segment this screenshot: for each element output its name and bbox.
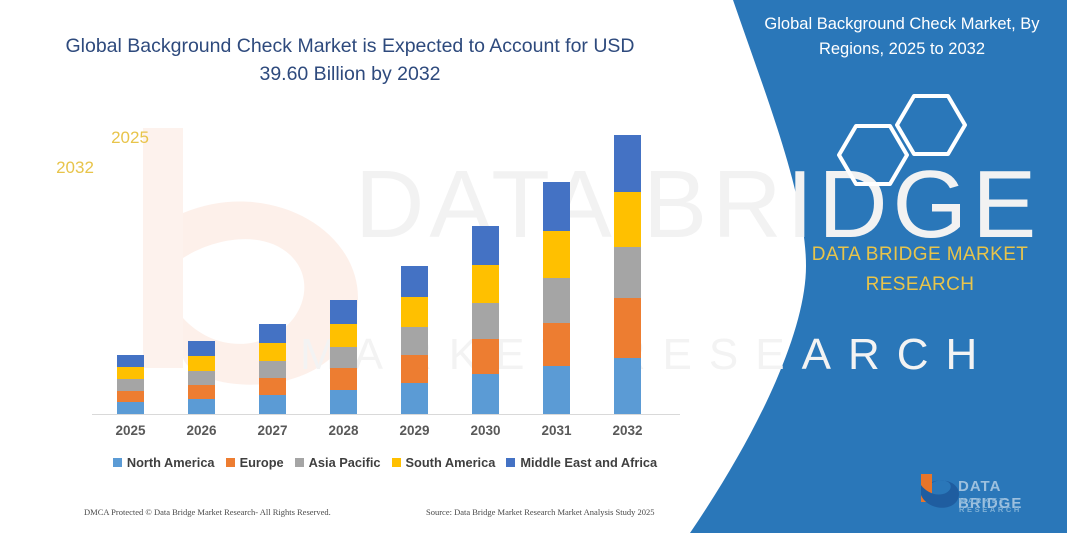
- footer-copyright: DMCA Protected © Data Bridge Market Rese…: [84, 507, 331, 517]
- segment-europe: [259, 378, 286, 395]
- segment-europe: [401, 355, 428, 383]
- panel-title: Global Background Check Market, By Regio…: [752, 12, 1052, 62]
- legend-label: Middle East and Africa: [520, 455, 657, 470]
- x-axis-labels: 20252026202720282029203020312032: [90, 423, 680, 443]
- bar-2032[interactable]: [614, 135, 641, 414]
- x-label-2030: 2030: [456, 423, 516, 438]
- segment-south-america: [330, 324, 357, 347]
- legend-swatch-icon: [113, 458, 122, 467]
- segment-south-america: [188, 356, 215, 371]
- segment-middle-east-and-africa: [614, 135, 641, 192]
- segment-middle-east-and-africa: [117, 355, 144, 367]
- segment-south-america: [117, 367, 144, 379]
- hexagon-2025-outline: [897, 96, 965, 154]
- hexagon-badges: [818, 92, 1018, 207]
- segment-south-america: [614, 192, 641, 247]
- segment-north-america: [117, 402, 144, 414]
- brand-line-1: DATA BRIDGE MARKET: [790, 240, 1050, 270]
- x-label-2028: 2028: [314, 423, 374, 438]
- bar-2025[interactable]: [117, 355, 144, 414]
- legend-label: Europe: [240, 455, 284, 470]
- segment-asia-pacific: [259, 361, 286, 378]
- segment-europe: [614, 298, 641, 358]
- segment-asia-pacific: [543, 278, 570, 323]
- bar-2028[interactable]: [330, 300, 357, 414]
- legend-swatch-icon: [295, 458, 304, 467]
- segment-asia-pacific: [188, 371, 215, 385]
- chart-baseline: [92, 414, 680, 415]
- legend-swatch-icon: [506, 458, 515, 467]
- segment-middle-east-and-africa: [543, 182, 570, 231]
- segment-north-america: [330, 390, 357, 414]
- segment-asia-pacific: [614, 247, 641, 298]
- chart-legend: North AmericaEuropeAsia PacificSouth Ame…: [95, 455, 675, 470]
- legend-item-north-america[interactable]: North America: [113, 455, 215, 470]
- hexagon-2032-outline: [839, 126, 907, 184]
- chart-title: Global Background Check Market is Expect…: [60, 32, 640, 88]
- segment-europe: [543, 323, 570, 366]
- segment-south-america: [543, 231, 570, 278]
- segment-asia-pacific: [472, 303, 499, 339]
- legend-item-south-america[interactable]: South America: [392, 455, 496, 470]
- footer-source: Source: Data Bridge Market Research Mark…: [426, 507, 655, 517]
- legend-swatch-icon: [226, 458, 235, 467]
- hexagon-2032-label: 2032: [40, 158, 110, 178]
- x-label-2031: 2031: [527, 423, 587, 438]
- segment-asia-pacific: [117, 379, 144, 391]
- legend-item-asia-pacific[interactable]: Asia Pacific: [295, 455, 381, 470]
- legend-item-middle-east-and-africa[interactable]: Middle East and Africa: [506, 455, 657, 470]
- legend-label: South America: [406, 455, 496, 470]
- segment-north-america: [472, 374, 499, 414]
- segment-europe: [188, 385, 215, 399]
- segment-europe: [472, 339, 499, 374]
- segment-north-america: [614, 358, 641, 414]
- x-label-2032: 2032: [598, 423, 658, 438]
- dbmr-logo-sub-text: MARKET RESEARCH: [959, 496, 1067, 514]
- bar-2030[interactable]: [472, 226, 499, 414]
- segment-middle-east-and-africa: [188, 341, 215, 356]
- x-label-2025: 2025: [101, 423, 161, 438]
- segment-europe: [330, 368, 357, 390]
- legend-label: Asia Pacific: [309, 455, 381, 470]
- segment-asia-pacific: [330, 347, 357, 368]
- segment-north-america: [188, 399, 215, 414]
- bar-2031[interactable]: [543, 182, 570, 414]
- hexagon-2025-label: 2025: [95, 128, 165, 148]
- segment-middle-east-and-africa: [401, 266, 428, 297]
- segment-asia-pacific: [401, 327, 428, 355]
- bar-2029[interactable]: [401, 266, 428, 414]
- segment-north-america: [543, 366, 570, 414]
- brand-line-2: RESEARCH: [790, 270, 1050, 300]
- bar-2027[interactable]: [259, 324, 286, 414]
- legend-swatch-icon: [392, 458, 401, 467]
- segment-south-america: [472, 265, 499, 303]
- segment-north-america: [259, 395, 286, 414]
- segment-middle-east-and-africa: [330, 300, 357, 324]
- footer: DMCA Protected © Data Bridge Market Rese…: [84, 507, 684, 521]
- x-label-2026: 2026: [172, 423, 232, 438]
- infographic-root: DATA BRIDGE MARKET RESEARCH Global Backg…: [0, 0, 1067, 533]
- segment-europe: [117, 391, 144, 402]
- x-label-2029: 2029: [385, 423, 445, 438]
- legend-label: North America: [127, 455, 215, 470]
- segment-middle-east-and-africa: [472, 226, 499, 265]
- segment-north-america: [401, 383, 428, 414]
- stacked-bar-chart: [90, 120, 680, 415]
- segment-south-america: [401, 297, 428, 327]
- brand-name: DATA BRIDGE MARKET RESEARCH: [790, 240, 1050, 300]
- x-label-2027: 2027: [243, 423, 303, 438]
- segment-middle-east-and-africa: [259, 324, 286, 343]
- legend-item-europe[interactable]: Europe: [226, 455, 284, 470]
- bar-2026[interactable]: [188, 341, 215, 414]
- segment-south-america: [259, 343, 286, 361]
